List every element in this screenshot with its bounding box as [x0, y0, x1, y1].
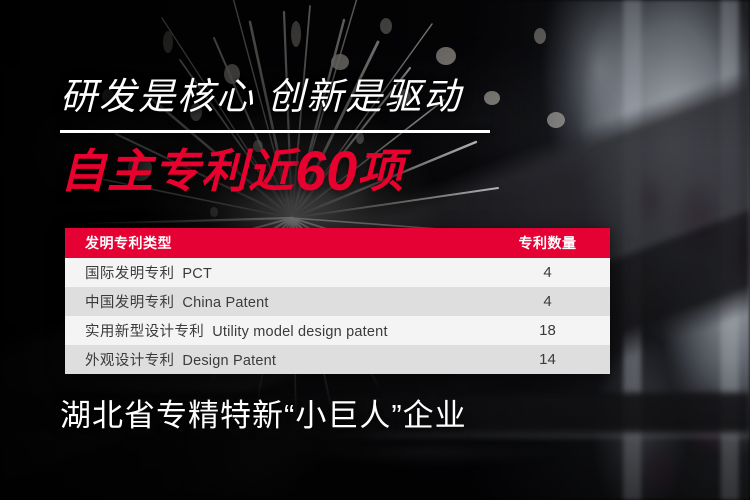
- cell-type-cn: 实用新型设计专利: [85, 324, 204, 340]
- cell-patent-type: 国际发明专利PCT: [85, 262, 485, 283]
- cell-patent-count: 4: [485, 293, 610, 310]
- headline-secondary-suffix: 项: [357, 145, 404, 197]
- cell-type-en: Design Patent: [182, 353, 276, 369]
- headline-primary: 研发是核心 创新是驱动: [60, 78, 462, 115]
- cell-patent-count: 14: [485, 351, 610, 368]
- headline-secondary-prefix: 自主专利近: [60, 145, 295, 197]
- cell-type-en: PCT: [182, 266, 212, 282]
- table-row: 实用新型设计专利Utility model design patent 18: [65, 316, 610, 345]
- cell-patent-type: 中国发明专利China Patent: [85, 291, 485, 312]
- headline-divider: [60, 130, 490, 133]
- footer-tagline: 湖北省专精特新“小巨人”企业: [60, 400, 467, 431]
- patent-table: 发明专利类型 专利数量 国际发明专利PCT 4 中国发明专利China Pate…: [65, 228, 610, 374]
- column-header-type: 发明专利类型: [85, 233, 485, 253]
- column-header-count: 专利数量: [485, 233, 610, 253]
- table-header-row: 发明专利类型 专利数量: [65, 228, 610, 258]
- cell-type-cn: 中国发明专利: [85, 295, 174, 311]
- cell-patent-type: 实用新型设计专利Utility model design patent: [85, 320, 485, 341]
- cell-patent-count: 4: [485, 264, 610, 281]
- cell-type-cn: 外观设计专利: [85, 353, 174, 369]
- promo-banner: 研发是核心 创新是驱动 自主专利近60项 发明专利类型 专利数量 国际发明专利P…: [0, 0, 750, 500]
- cell-patent-type: 外观设计专利Design Patent: [85, 349, 485, 370]
- cell-type-en: Utility model design patent: [212, 324, 387, 340]
- table-row: 外观设计专利Design Patent 14: [65, 345, 610, 374]
- cell-type-en: China Patent: [182, 295, 268, 311]
- headline-patent-count: 60: [295, 139, 357, 202]
- headline-secondary: 自主专利近60项: [60, 143, 404, 199]
- cell-patent-count: 18: [485, 322, 610, 339]
- table-row: 中国发明专利China Patent 4: [65, 287, 610, 316]
- cell-type-cn: 国际发明专利: [85, 266, 174, 282]
- table-row: 国际发明专利PCT 4: [65, 258, 610, 287]
